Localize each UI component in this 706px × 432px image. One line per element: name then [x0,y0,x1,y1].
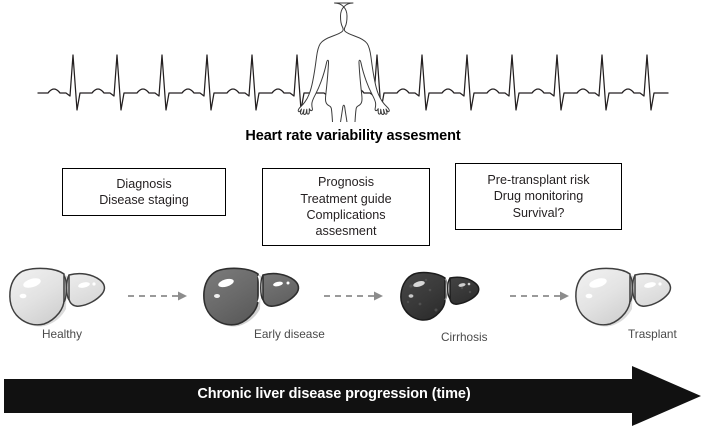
liver-icon [200,258,330,338]
figure-canvas: Heart rate variability assesment Diagnos… [0,0,706,432]
stage-label-healthy: Healthy [42,327,82,341]
stage-label-early-disease: Early disease [254,327,325,341]
liver-icon [572,258,702,338]
arrow-right-banner-icon [4,366,702,426]
human-body-silhouette-icon [298,3,389,122]
info-box-diagnosis: Diagnosis Disease staging [62,168,226,216]
progression-arrow-banner [4,366,702,426]
hrv-title: Heart rate variability assesment [0,128,706,144]
hrv-illustration [0,0,706,122]
info-box-prognosis: Prognosis Treatment guide Complications … [262,168,430,246]
stage-label-cirrhosis: Cirrhosis [441,330,488,344]
dashed-arrow-right-icon-1 [128,288,190,304]
liver-icon [396,258,506,338]
dashed-arrow-right-icon-3 [510,288,572,304]
liver-icon [6,258,136,338]
info-box-pre-transplant: Pre-transplant risk Drug monitoring Surv… [455,163,622,230]
stage-label-transplant: Trasplant [628,327,677,341]
ecg-waveform-svg [0,0,706,122]
dashed-arrow-right-icon-2 [324,288,386,304]
